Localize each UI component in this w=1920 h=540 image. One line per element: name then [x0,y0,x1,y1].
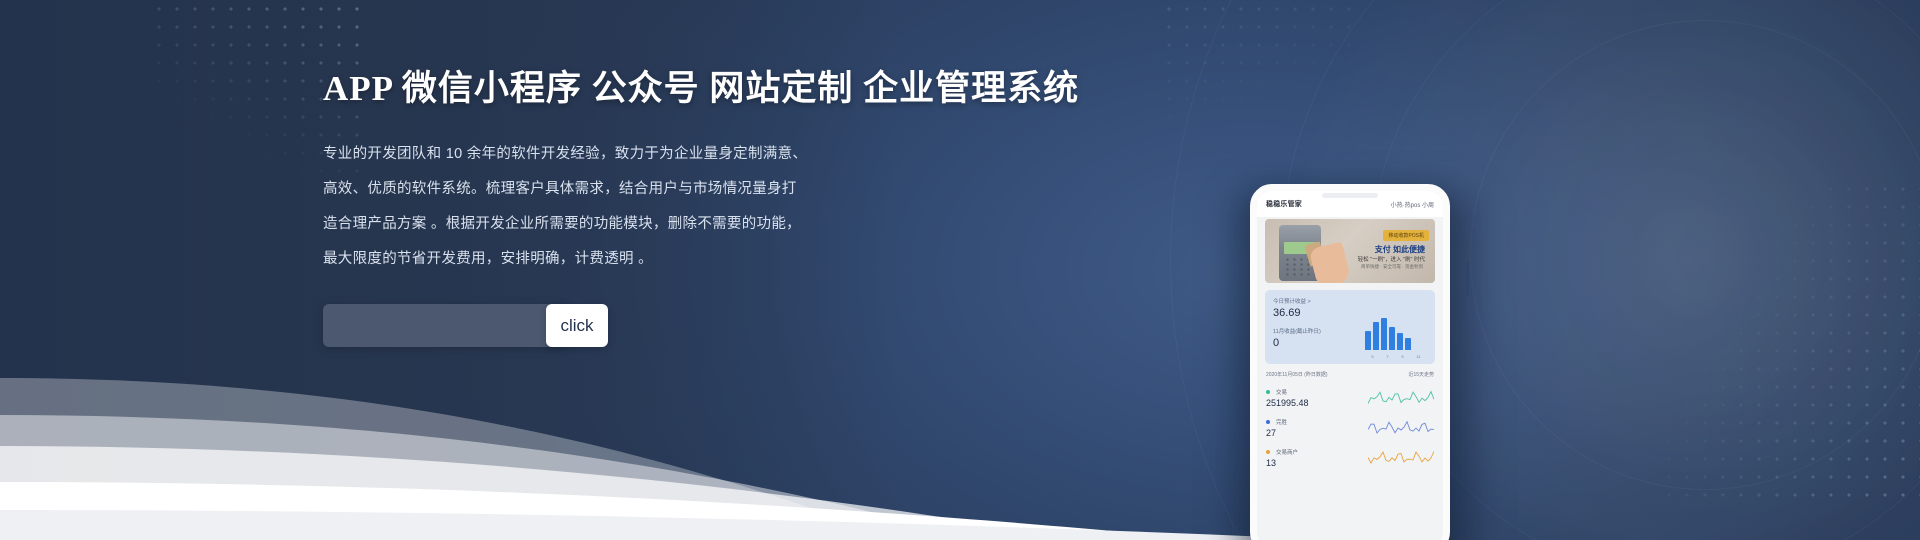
description-line-3: 造合理产品方案 。根据开发企业所需要的功能模块，删除不需要的功能， [323,207,1103,242]
phone-device: 稳稳乐管家 小热·热pos 小周 移动收款POS机 支付 如此便捷 轻松 "一刷… [1250,184,1450,540]
bar [1381,318,1387,350]
app-user-label: 小热·热pos 小周 [1391,200,1434,209]
trend-period-label: 近15天走势 [1408,371,1434,378]
hero-content: APP 微信小程序 公众号 网站定制 企业管理系统 专业的开发团队和 10 余年… [323,68,1103,347]
hero-description: 专业的开发团队和 10 余年的软件开发经验，致力于为企业量身定制满意、 高效、优… [323,137,1103,277]
app-promo-banner[interactable]: 移动收款POS机 支付 如此便捷 轻松 "一刷"，进入 "刷" 时代 简单快捷 … [1265,219,1435,283]
banner-tag: 移动收款POS机 [1383,230,1429,241]
today-earnings-label: 今日预计收益 > [1273,297,1427,305]
earnings-bar-chart [1365,316,1427,350]
bar [1373,322,1379,350]
description-line-1: 专业的开发团队和 10 余年的软件开发经验，致力于为企业量身定制满意、 [323,137,1103,172]
banner-subline-2: 简单快捷 · 安全可靠 · 资金秒到 [1361,264,1423,270]
metric-name: 交易 [1266,388,1309,396]
metric-name: 完胜 [1266,418,1287,426]
bar-axis-tick: 7 [1386,354,1388,359]
data-meta-row: 2020年11月05日 (昨日数据) 近15天走势 [1266,371,1434,378]
metric-color-dot [1266,420,1270,424]
description-line-2: 高效、优质的软件系统。梳理客户具体需求，结合用户与市场情况量身打 [323,172,1103,207]
banner-subline: 轻松 "一刷"，进入 "刷" 时代 [1358,255,1425,263]
dot-pattern-top-right [1160,0,1360,120]
bar [1365,331,1371,350]
hand-illustration [1309,241,1352,283]
hero-banner: APP 微信小程序 公众号 网站定制 企业管理系统 专业的开发团队和 10 余年… [0,0,1920,540]
metric-value: 251995.48 [1266,398,1309,408]
data-date-label: 2020年11月05日 (昨日数据) [1266,371,1328,378]
cta-search-bar[interactable]: click [323,304,567,347]
metric-row-left: 交易251995.48 [1266,388,1309,408]
bar [1389,327,1395,350]
metric-sparkline [1368,447,1434,469]
app-brand-label: 稳稳乐管家 [1266,199,1302,209]
metric-value: 27 [1266,428,1287,438]
metric-row-list: 交易251995.48完胜27交易商户13 [1266,383,1434,473]
search-input[interactable] [323,304,567,347]
metric-color-dot [1266,450,1270,454]
phone-speaker [1322,193,1378,198]
metric-value: 13 [1266,458,1298,468]
metric-row[interactable]: 完胜27 [1266,413,1434,443]
earnings-bar-axis: 57911 [1365,354,1427,359]
bar-axis-tick: 9 [1401,354,1403,359]
phone-side-button [1466,262,1469,296]
bar-axis-tick: 11 [1416,354,1420,359]
metric-row-left: 交易商户13 [1266,448,1298,468]
bar [1397,333,1403,350]
metric-sparkline [1368,387,1434,409]
phone-mockup: 稳稳乐管家 小热·热pos 小周 移动收款POS机 支付 如此便捷 轻松 "一刷… [1250,184,1460,540]
click-button[interactable]: click [546,304,608,347]
earnings-card[interactable]: 今日预计收益 > 36.69 11月收益(截止昨日) 0 57911 [1265,290,1435,364]
metric-name: 交易商户 [1266,448,1298,456]
bar [1405,338,1411,350]
page-title: APP 微信小程序 公众号 网站定制 企业管理系统 [323,68,1103,110]
metric-row-left: 完胜27 [1266,418,1287,438]
metric-row[interactable]: 交易251995.48 [1266,383,1434,413]
banner-headline: 支付 如此便捷 [1375,244,1425,255]
description-line-4: 最大限度的节省开发费用，安排明确，计费透明 。 [323,242,1103,277]
metric-color-dot [1266,390,1270,394]
metric-row[interactable]: 交易商户13 [1266,443,1434,473]
bar-axis-tick: 5 [1371,354,1373,359]
metric-sparkline [1368,417,1434,439]
